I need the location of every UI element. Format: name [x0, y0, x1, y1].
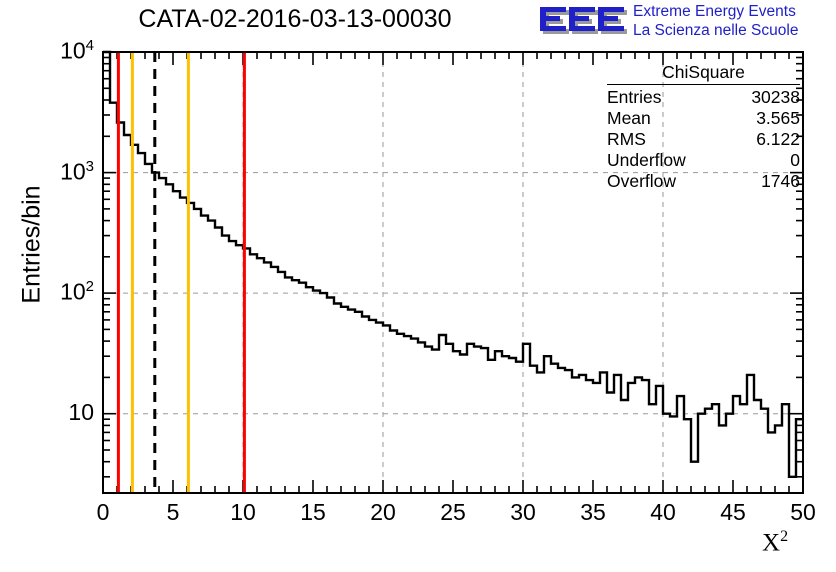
stats-row-key: Overflow — [607, 171, 676, 192]
plot-canvas: CATA-02-2016-03-13-00030 — [0, 0, 836, 572]
x-tick-label: 30 — [493, 499, 553, 526]
stats-row-key: Entries — [607, 87, 661, 108]
stats-row-value: 1746 — [761, 171, 800, 192]
stats-box: ChiSquare Entries30238Mean3.565RMS6.122U… — [607, 62, 800, 192]
x-tick-label: 0 — [73, 499, 133, 526]
stats-row: Overflow1746 — [607, 171, 800, 192]
stats-row: RMS6.122 — [607, 129, 800, 150]
stats-row-value: 0 — [790, 150, 800, 171]
stats-row-key: Underflow — [607, 150, 686, 171]
stats-row: Entries30238 — [607, 87, 800, 108]
x-tick-label: 50 — [773, 499, 833, 526]
x-tick-label: 5 — [143, 499, 203, 526]
x-tick-label: 40 — [633, 499, 693, 526]
stats-box-rows: Entries30238Mean3.565RMS6.122Underflow0O… — [607, 87, 800, 192]
x-tick-label: 15 — [283, 499, 343, 526]
x-tick-label: 45 — [703, 499, 763, 526]
x-tick-label: 20 — [353, 499, 413, 526]
stats-box-title: ChiSquare — [607, 62, 800, 84]
x-tick-label: 25 — [423, 499, 483, 526]
stats-row: Underflow0 — [607, 150, 800, 171]
stats-box-rule — [607, 84, 800, 85]
x-tick-label: 35 — [563, 499, 623, 526]
stats-row-key: Mean — [607, 108, 651, 129]
x-tick-label: 10 — [213, 499, 273, 526]
stats-row: Mean3.565 — [607, 108, 800, 129]
stats-row-value: 6.122 — [756, 129, 800, 150]
stats-row-value: 30238 — [751, 87, 800, 108]
stats-row-key: RMS — [607, 129, 646, 150]
stats-row-value: 3.565 — [756, 108, 800, 129]
